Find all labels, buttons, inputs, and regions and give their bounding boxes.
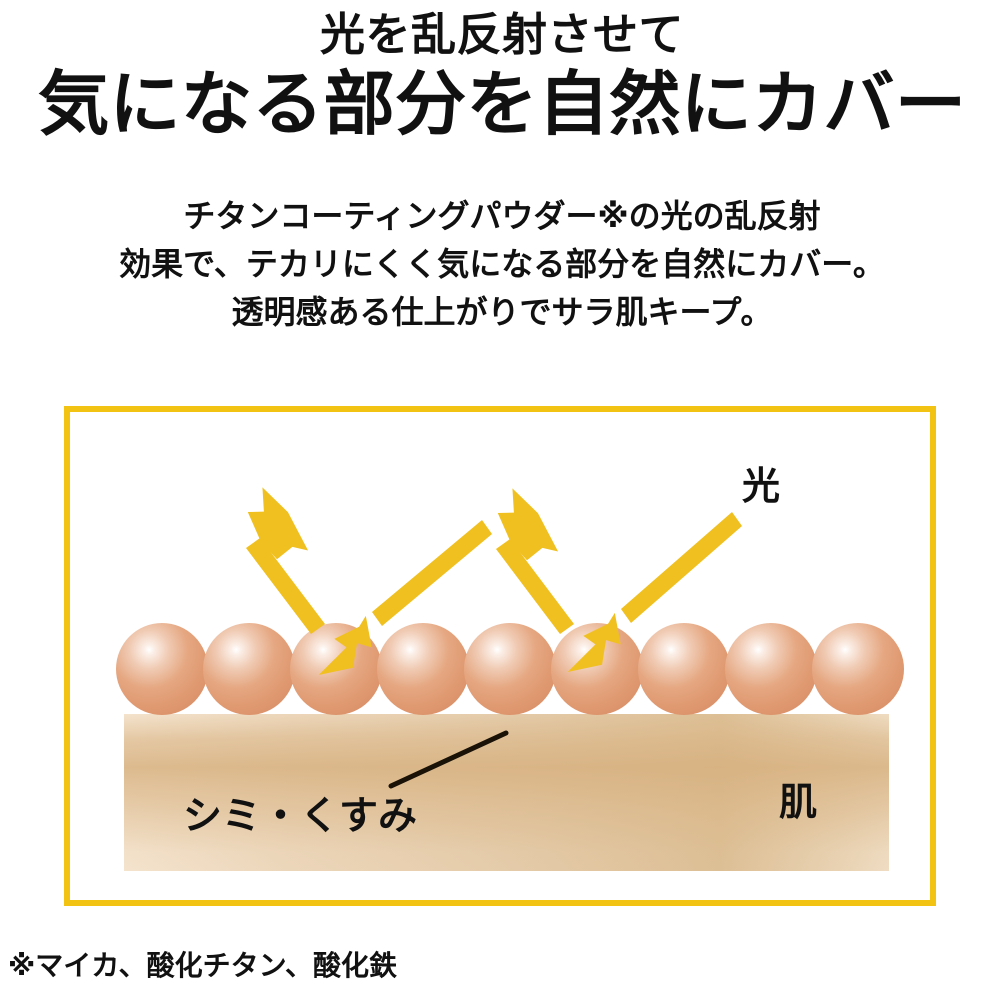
headline-line-1: 光を乱反射させて (0, 6, 1004, 64)
headline-block: 光を乱反射させて 気になる部分を自然にカバー (0, 6, 1004, 144)
incoming-light-arrow-right (561, 512, 742, 672)
headline-line-2: 気になる部分を自然にカバー (0, 64, 1004, 144)
body-copy-line-2: 効果で、テカリにくく気になる部分を自然にカバー。 (0, 240, 1004, 288)
label-blemish: シミ・くすみ (183, 797, 417, 836)
reflected-light-arrow-left (243, 486, 325, 634)
reflected-light-arrow-right (493, 487, 574, 634)
body-copy-line-1: チタンコーティングパウダー※の光の乱反射 (0, 192, 1004, 240)
body-copy: チタンコーティングパウダー※の光の乱反射 効果で、テカリにくく気になる部分を自然… (0, 192, 1004, 336)
label-light: 光 (742, 468, 780, 506)
label-skin: 肌 (779, 784, 817, 822)
body-copy-line-3: 透明感ある仕上がりでサラ肌キープ。 (0, 288, 1004, 336)
footnote: ※マイカ、酸化チタン、酸化鉄 (8, 952, 397, 980)
incoming-light-arrow-left (312, 520, 492, 675)
diagram-frame: 光 肌 シミ・くすみ (64, 406, 936, 906)
blemish-leader-line (391, 733, 506, 786)
diagram-canvas: 光 肌 シミ・くすみ (70, 412, 942, 912)
